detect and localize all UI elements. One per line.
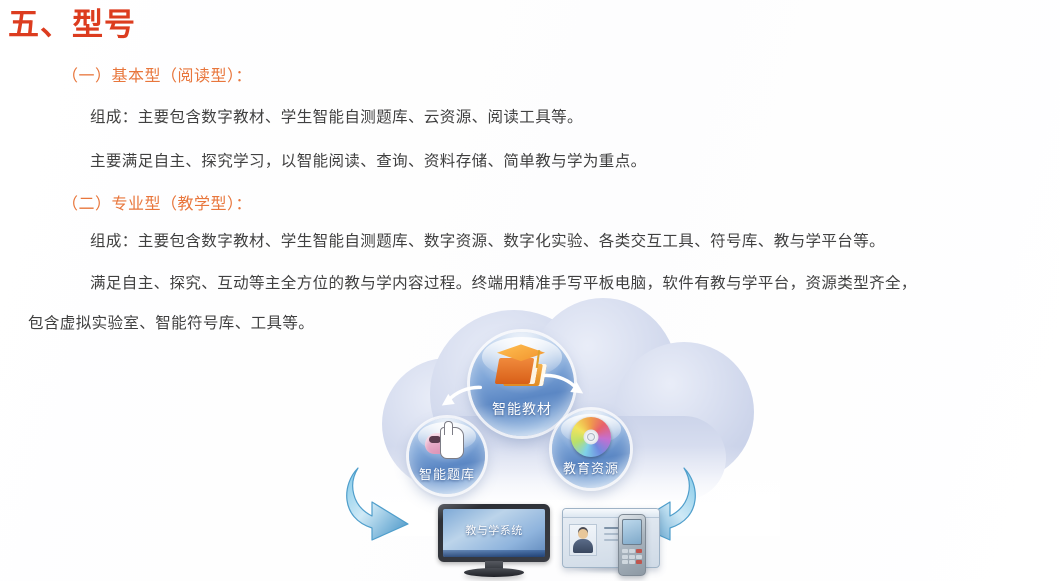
subheading-professional-type: （二）专业型（教学型）： [62, 190, 252, 214]
subheading-basic-type: （一）基本型（阅读型）： [62, 62, 252, 86]
architecture-diagram: 智能教材 智能题库 教育资源 [280, 296, 780, 581]
monitor-base [464, 568, 524, 577]
paragraph-pro-composition: 组成：主要包含数字教材、学生智能自测题库、数字资源、数字化实验、各类交互工具、符… [90, 230, 885, 253]
paragraph-pro-detail-line2: 包含虚拟实验室、智能符号库、工具等。 [28, 312, 314, 335]
page-title: 五、型号 [8, 6, 136, 45]
paragraph-basic-composition: 组成：主要包含数字教材、学生智能自测题库、云资源、阅读工具等。 [90, 106, 583, 129]
paragraph-basic-focus: 主要满足自主、探究学习，以智能阅读、查询、资料存储、简单教与学为重点。 [90, 150, 647, 173]
phone-screen [622, 519, 642, 545]
paragraph-pro-detail-line1: 满足自主、探究、互动等主全方位的教与学内容过程。终端用精准手写平板电脑，软件有教… [90, 272, 917, 295]
mobile-phone-icon[interactable] [618, 514, 646, 576]
node-label: 智能题库 [409, 464, 485, 483]
mouse-hand-cursor-icon [425, 427, 469, 461]
desktop-monitor-icon[interactable]: 教与学系统 [438, 504, 550, 576]
phone-keypad [622, 549, 642, 564]
slide-page: 五、型号 （一）基本型（阅读型）： 组成：主要包含数字教材、学生智能自测题库、云… [0, 0, 1060, 581]
node-label: 教育资源 [552, 458, 630, 477]
node-education-resources[interactable]: 教育资源 [552, 410, 630, 488]
monitor-label: 教与学系统 [443, 522, 545, 538]
avatar [569, 524, 597, 556]
node-smart-question-bank[interactable]: 智能题库 [409, 418, 485, 494]
cd-disc-icon [571, 417, 611, 457]
monitor-screen: 教与学系统 [438, 504, 550, 562]
